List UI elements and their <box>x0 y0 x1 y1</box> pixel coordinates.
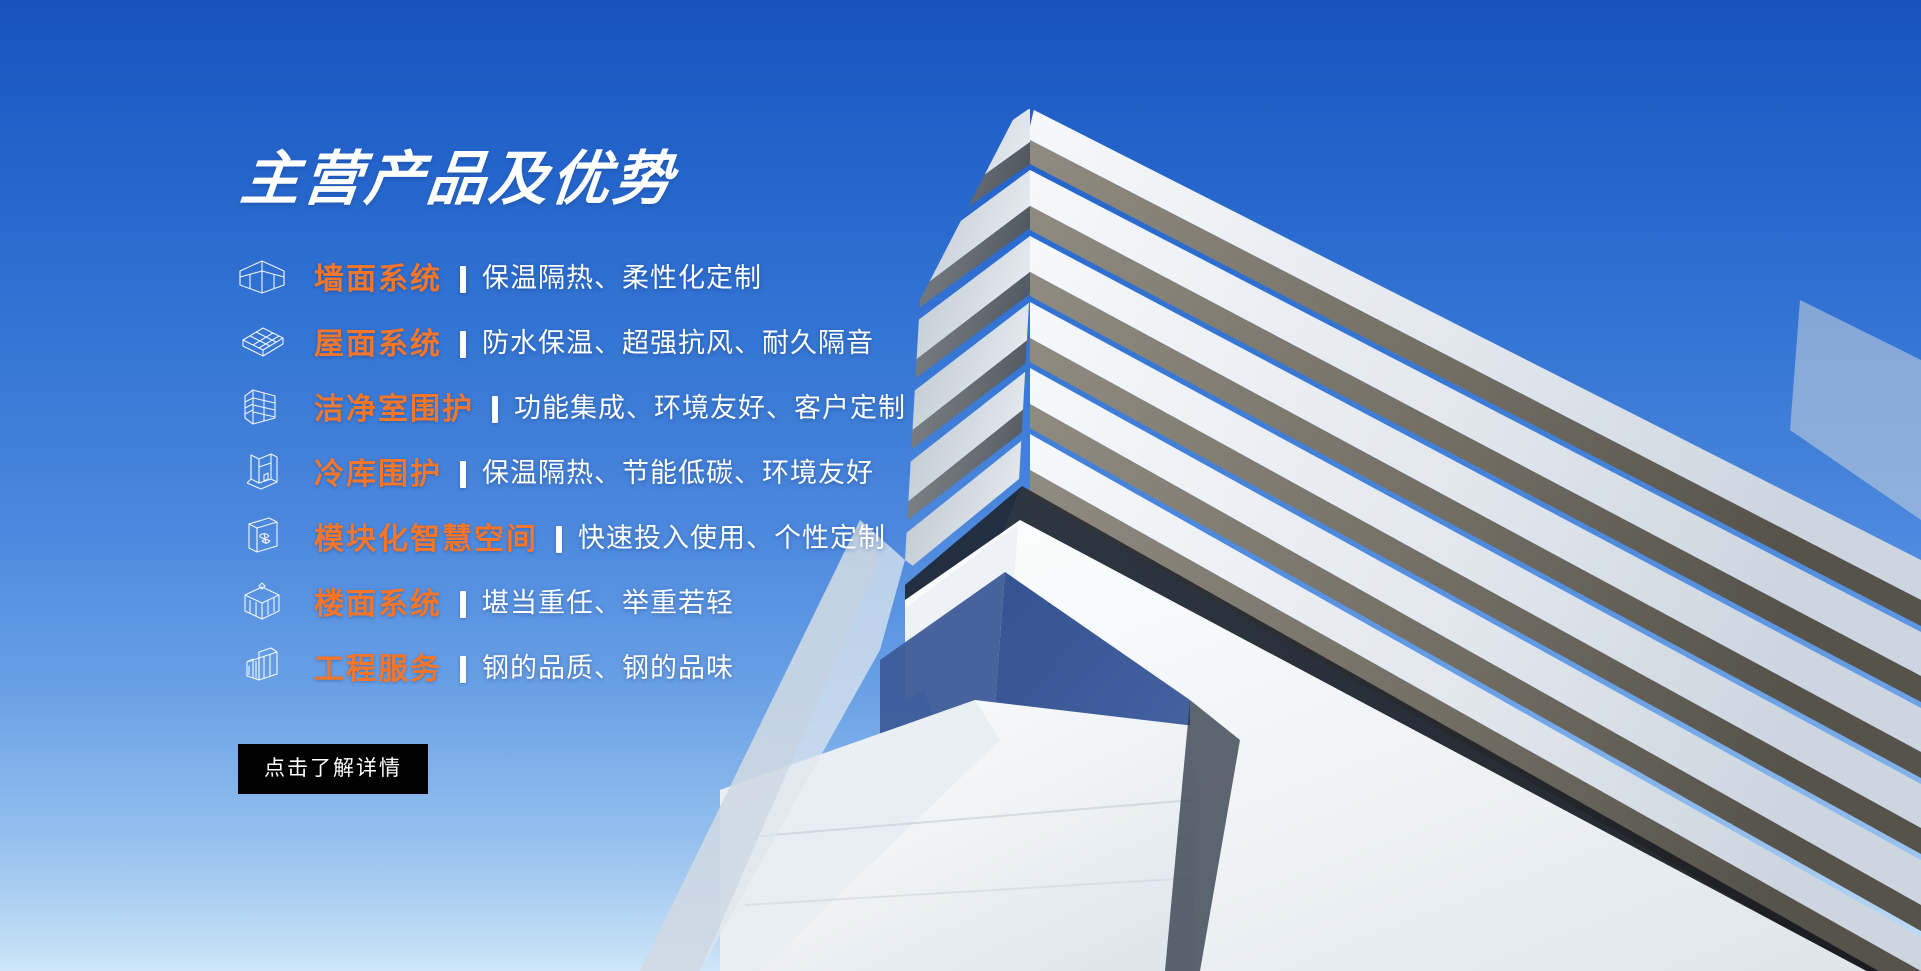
product-description: 堪当重任、举重若轻 <box>482 581 734 620</box>
product-description: 钢的品质、钢的品味 <box>482 646 734 685</box>
product-name: 工程服务 <box>314 644 442 688</box>
product-name: 模块化智慧空间 <box>314 514 538 558</box>
cleanroom-enclosure-icon <box>236 383 288 429</box>
product-row-roof-system[interactable]: 屋面系统 防水保温、超强抗风、耐久隔音 <box>236 308 1336 373</box>
product-description: 快速投入使用、个性定制 <box>578 516 886 555</box>
modular-smart-space-icon <box>236 513 288 559</box>
page-title: 主营产品及优势 <box>236 150 1342 209</box>
separator-bar <box>556 526 562 553</box>
product-name: 楼面系统 <box>314 579 442 623</box>
product-advantage-banner: 主营产品及优势 墙面系统 <box>0 0 1921 971</box>
product-name: 洁净室围护 <box>314 384 474 428</box>
wall-system-icon <box>236 253 288 299</box>
product-row-cleanroom-enclosure[interactable]: 洁净室围护 功能集成、环境友好、客户定制 <box>236 373 1336 438</box>
product-list: 墙面系统 保温隔热、柔性化定制 屋面系统 <box>236 243 1336 698</box>
product-row-wall-system[interactable]: 墙面系统 保温隔热、柔性化定制 <box>236 243 1336 308</box>
separator-bar <box>492 396 498 423</box>
cold-storage-enclosure-icon <box>236 448 288 494</box>
product-name: 墙面系统 <box>314 254 442 298</box>
product-row-modular-smart-space[interactable]: 模块化智慧空间 快速投入使用、个性定制 <box>236 503 1336 568</box>
banner-content: 主营产品及优势 墙面系统 <box>236 150 1336 794</box>
product-name: 屋面系统 <box>314 319 442 363</box>
cta-wrapper: 点击了解详情 <box>236 744 1336 794</box>
product-name: 冷库围护 <box>314 449 442 493</box>
engineering-service-icon <box>236 643 288 689</box>
product-row-floor-system[interactable]: 楼面系统 堪当重任、举重若轻 <box>236 568 1336 633</box>
separator-bar <box>460 591 466 618</box>
product-row-engineering-service[interactable]: 工程服务 钢的品质、钢的品味 <box>236 633 1336 698</box>
separator-bar <box>460 331 466 358</box>
roof-system-icon <box>236 318 288 364</box>
product-description: 保温隔热、柔性化定制 <box>482 256 762 295</box>
separator-bar <box>460 266 466 293</box>
floor-system-icon <box>236 578 288 624</box>
learn-more-button[interactable]: 点击了解详情 <box>238 744 428 794</box>
separator-bar <box>460 656 466 683</box>
separator-bar <box>460 461 466 488</box>
product-description: 防水保温、超强抗风、耐久隔音 <box>482 321 874 360</box>
product-row-cold-storage-enclosure[interactable]: 冷库围护 保温隔热、节能低碳、环境友好 <box>236 438 1336 503</box>
product-description: 保温隔热、节能低碳、环境友好 <box>482 451 874 490</box>
product-description: 功能集成、环境友好、客户定制 <box>514 386 906 425</box>
